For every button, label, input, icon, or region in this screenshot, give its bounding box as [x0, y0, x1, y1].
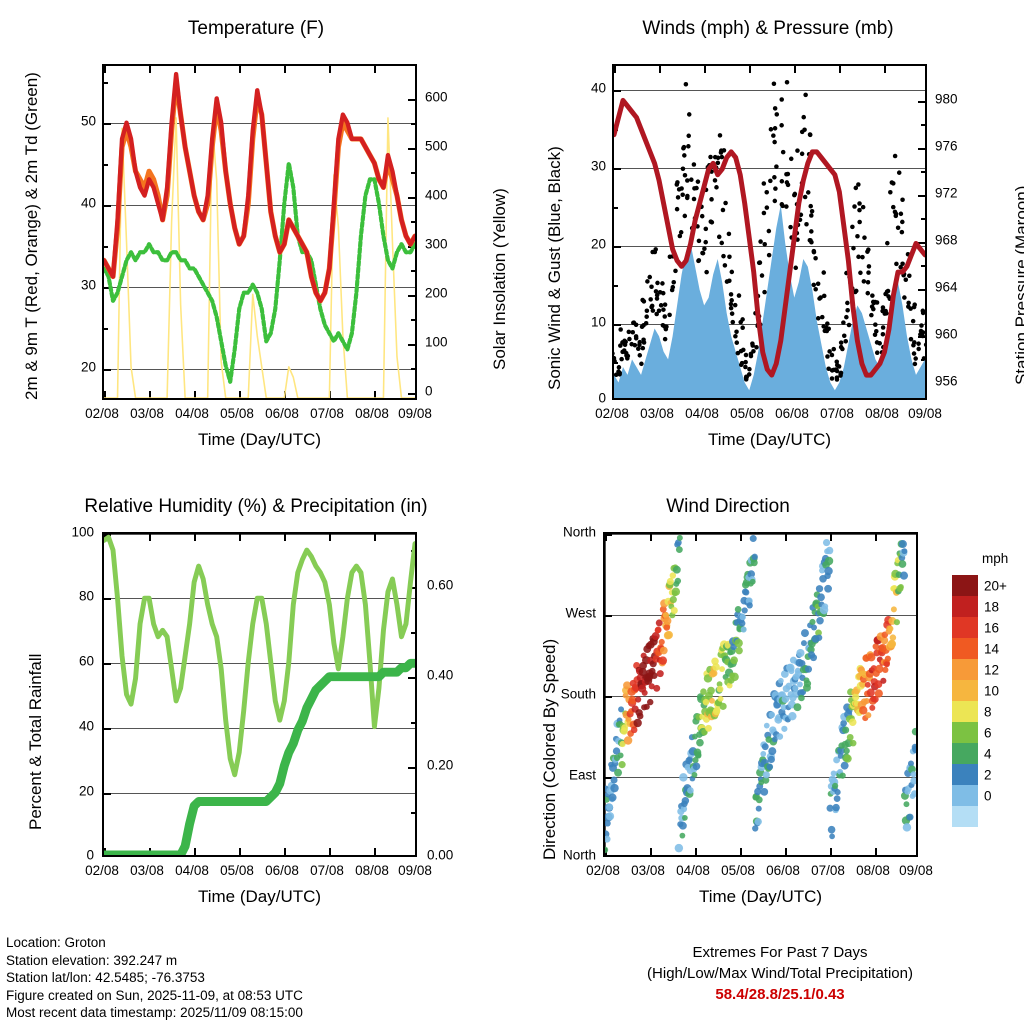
colorbar-label-4: 12	[984, 662, 999, 677]
temperature-ytick-right-4: 400	[425, 188, 448, 203]
temperature-x-axis-label: Time (Day/UTC)	[102, 430, 417, 450]
winds-ytick-right-0: 956	[935, 374, 958, 389]
humidity-ytick-right-3: 0.60	[427, 578, 453, 593]
colorbar-band-7	[952, 722, 978, 743]
winds-y-axis-left-label: Sonic Wind & Gust (Blue, Black)	[545, 146, 565, 390]
winds-y-axis-right-label: Station Pressure (Maroon)	[1012, 186, 1024, 385]
colorbar-band-8	[952, 743, 978, 764]
colorbar-band-1	[952, 596, 978, 617]
temperature-xtick-5: 07/08	[310, 406, 344, 421]
temperature-xtick-6: 08/08	[355, 406, 389, 421]
station-metadata: Location: Groton Station elevation: 392.…	[6, 934, 303, 1022]
colorbar-label-8: 4	[984, 746, 992, 761]
colorbar-band-4	[952, 659, 978, 680]
temperature-xtick-4: 06/08	[265, 406, 299, 421]
colorbar-unit-label: mph	[982, 551, 1008, 566]
temperature-chart-title: Temperature (F)	[0, 18, 512, 40]
colorbar-band-2	[952, 617, 978, 638]
temperature-ytick-right-1: 100	[425, 335, 448, 350]
temperature-ytick-left-0: 20	[58, 360, 96, 375]
colorbar-label-6: 8	[984, 704, 992, 719]
winds-xtick-5: 07/08	[820, 406, 854, 421]
temperature-xtick-0: 02/08	[85, 406, 119, 421]
winds-plot-area	[612, 64, 927, 400]
colorbar-label-7: 6	[984, 725, 992, 740]
temperature-ytick-right-5: 500	[425, 139, 448, 154]
panel-wind-direction: Wind Direction Direction (Colored By Spe…	[512, 490, 1024, 930]
colorbar-label-2: 16	[984, 620, 999, 635]
humidity-ytick-right-0: 0.00	[427, 848, 453, 863]
humidity-series-svg	[104, 534, 415, 855]
metadata-location: Location: Groton	[6, 934, 303, 952]
winddir-ytick-0: North	[544, 525, 596, 540]
winds-ytick-right-6: 980	[935, 92, 958, 107]
colorbar-label-0: 20+	[984, 578, 1007, 593]
temperature-xtick-3: 05/08	[220, 406, 254, 421]
winds-ytick-left-4: 40	[568, 81, 606, 96]
humidity-ytick-right-1: 0.20	[427, 758, 453, 773]
humidity-ytick-left-5: 100	[50, 525, 94, 540]
winds-ytick-right-4: 972	[935, 186, 958, 201]
winddir-ytick-2: South	[544, 687, 596, 702]
colorbar-label-10: 0	[984, 788, 992, 803]
humidity-x-axis-label: Time (Day/UTC)	[102, 887, 417, 907]
winddir-ytick-1: West	[544, 606, 596, 621]
metadata-latlon: Station lat/lon: 42.5485; -76.3753	[6, 969, 303, 987]
humidity-ytick-left-3: 60	[56, 654, 94, 669]
winds-xtick-4: 06/08	[775, 406, 809, 421]
humidity-xtick-2: 04/08	[175, 863, 209, 878]
winddir-y-axis-left-label: Direction (Colored By Speed)	[540, 639, 560, 860]
colorbar-band-5	[952, 680, 978, 701]
winds-ytick-left-1: 10	[568, 315, 606, 330]
humidity-xtick-4: 06/08	[265, 863, 299, 878]
humidity-plot-area	[102, 532, 417, 857]
temperature-xtick-7: 09/08	[398, 406, 432, 421]
winds-xtick-7: 09/08	[908, 406, 942, 421]
extremes-heading: Extremes For Past 7 Days	[560, 942, 1000, 963]
winds-ytick-right-2: 964	[935, 280, 958, 295]
temperature-ytick-left-3: 50	[58, 114, 96, 129]
winds-ytick-right-3: 968	[935, 233, 958, 248]
winddir-xtick-6: 08/08	[856, 863, 890, 878]
winds-ytick-left-2: 20	[568, 237, 606, 252]
metadata-elevation: Station elevation: 392.247 m	[6, 952, 303, 970]
winds-series-svg	[614, 66, 925, 398]
humidity-ytick-left-1: 20	[56, 784, 94, 799]
temperature-series-svg	[104, 66, 415, 398]
winddir-xtick-3: 05/08	[721, 863, 755, 878]
colorbar-band-9	[952, 764, 978, 785]
temperature-plot-area	[102, 64, 417, 400]
panel-temperature: Temperature (F) 2m & 9m T (Red, Orange) …	[0, 0, 512, 470]
temperature-ytick-right-6: 600	[425, 90, 448, 105]
humidity-ytick-left-4: 80	[56, 589, 94, 604]
temperature-y-axis-right-label: Solar Insolation (Yellow)	[490, 188, 510, 370]
winds-ytick-left-0: 0	[568, 391, 606, 406]
winddir-ytick-3: East	[544, 768, 596, 783]
colorbar-band-3	[952, 638, 978, 659]
temperature-ytick-left-1: 30	[58, 278, 96, 293]
humidity-xtick-0: 02/08	[85, 863, 119, 878]
winddir-ytick-4: North	[544, 848, 596, 863]
panel-winds-pressure: Winds (mph) & Pressure (mb) Sonic Wind &…	[512, 0, 1024, 470]
extremes-summary: Extremes For Past 7 Days (High/Low/Max W…	[560, 942, 1000, 1005]
extremes-values: 58.4/28.8/25.1/0.43	[560, 984, 1000, 1005]
winddir-xtick-5: 07/08	[811, 863, 845, 878]
humidity-xtick-5: 07/08	[310, 863, 344, 878]
temperature-ytick-right-3: 300	[425, 237, 448, 252]
panel-humidity-precip: Relative Humidity (%) & Precipitation (i…	[0, 490, 512, 930]
humidity-chart-title: Relative Humidity (%) & Precipitation (i…	[0, 496, 512, 518]
humidity-ytick-right-2: 0.40	[427, 668, 453, 683]
winds-xtick-3: 05/08	[730, 406, 764, 421]
winddir-xtick-0: 02/08	[586, 863, 620, 878]
winds-ytick-right-1: 960	[935, 327, 958, 342]
colorbar-band-6	[952, 701, 978, 722]
winddir-plot-area	[603, 532, 918, 857]
winddir-x-axis-label: Time (Day/UTC)	[603, 887, 918, 907]
winds-xtick-6: 08/08	[865, 406, 899, 421]
winddir-xtick-1: 03/08	[631, 863, 665, 878]
winds-x-axis-label: Time (Day/UTC)	[612, 430, 927, 450]
humidity-ytick-left-2: 40	[56, 719, 94, 734]
humidity-xtick-3: 05/08	[220, 863, 254, 878]
colorbar-band-11	[952, 806, 978, 827]
humidity-y-axis-left-label: Percent & Total Rainfall	[26, 654, 46, 830]
temperature-ytick-right-2: 200	[425, 286, 448, 301]
winddir-scatter-svg	[605, 534, 916, 855]
colorbar-label-5: 10	[984, 683, 999, 698]
winddir-chart-title: Wind Direction	[472, 496, 984, 518]
winds-ytick-left-3: 30	[568, 159, 606, 174]
winddir-xtick-7: 09/08	[899, 863, 933, 878]
winds-ytick-right-5: 976	[935, 139, 958, 154]
humidity-xtick-7: 09/08	[398, 863, 432, 878]
colorbar-label-9: 2	[984, 767, 992, 782]
temperature-xtick-2: 04/08	[175, 406, 209, 421]
humidity-xtick-6: 08/08	[355, 863, 389, 878]
winds-chart-title: Winds (mph) & Pressure (mb)	[512, 18, 1024, 40]
colorbar-label-1: 18	[984, 599, 999, 614]
winds-xtick-0: 02/08	[595, 406, 629, 421]
temperature-xtick-1: 03/08	[130, 406, 164, 421]
colorbar-band-0	[952, 575, 978, 596]
temperature-ytick-left-2: 40	[58, 196, 96, 211]
winddir-xtick-2: 04/08	[676, 863, 710, 878]
humidity-xtick-1: 03/08	[130, 863, 164, 878]
weather-dashboard: Temperature (F) 2m & 9m T (Red, Orange) …	[0, 0, 1024, 1024]
winddir-xtick-4: 06/08	[766, 863, 800, 878]
colorbar-band-10	[952, 785, 978, 806]
winds-xtick-1: 03/08	[640, 406, 674, 421]
winds-xtick-2: 04/08	[685, 406, 719, 421]
colorbar-label-3: 14	[984, 641, 999, 656]
metadata-figure-created: Figure created on Sun, 2025-11-09, at 08…	[6, 987, 303, 1005]
temperature-y-axis-left-label: 2m & 9m T (Red, Orange) & 2m Td (Green)	[22, 72, 42, 400]
metadata-data-timestamp: Most recent data timestamp: 2025/11/09 0…	[6, 1004, 303, 1022]
humidity-ytick-left-0: 0	[56, 848, 94, 863]
temperature-ytick-right-0: 0	[425, 384, 433, 399]
extremes-subheading: (High/Low/Max Wind/Total Precipitation)	[560, 963, 1000, 984]
